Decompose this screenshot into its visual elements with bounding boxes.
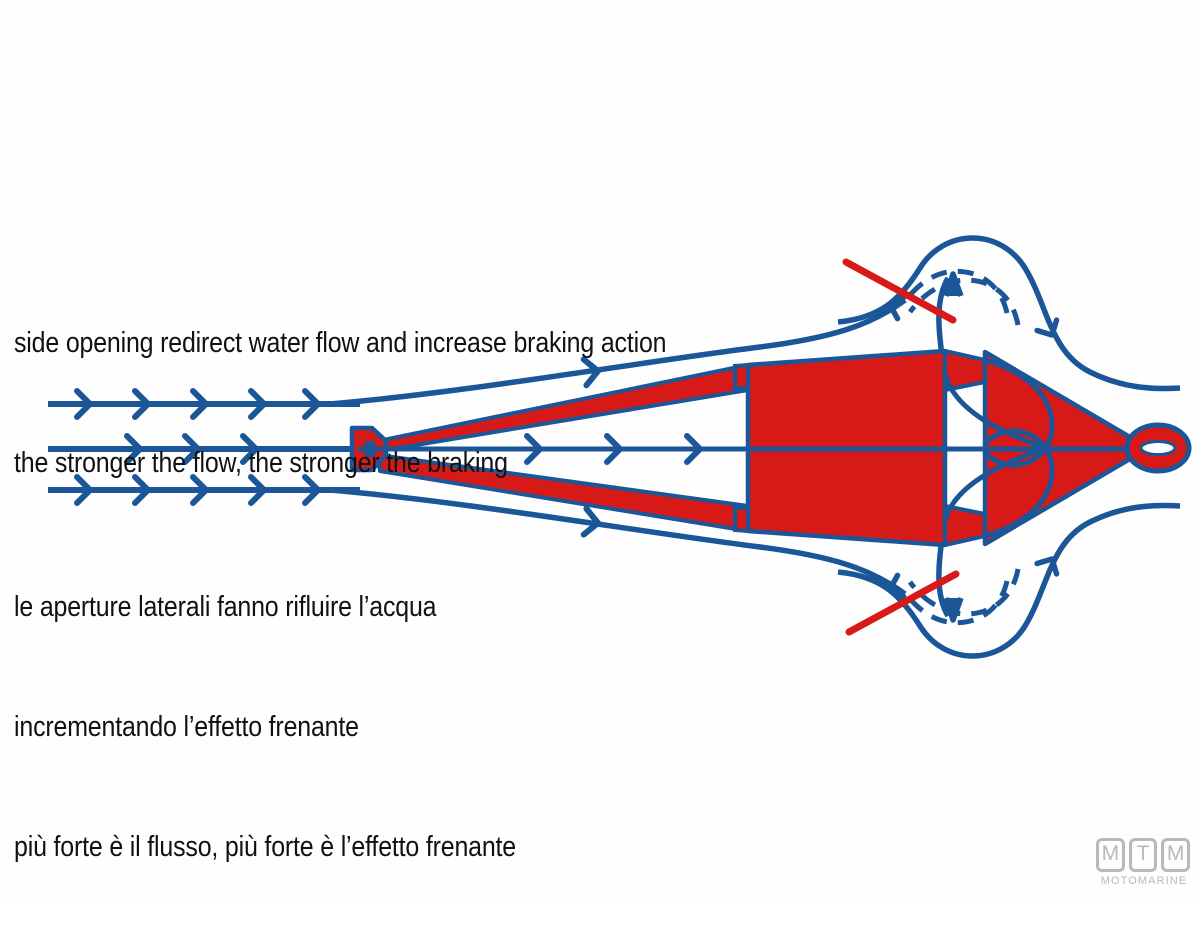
watermark-letter-box-3: M — [1161, 838, 1190, 872]
anode-body-collar-top — [735, 365, 748, 388]
caption-italian-line-1: le aperture laterali fanno rifluire l’ac… — [14, 587, 516, 627]
caption-english-line-2: the stronger the flow, the stronger the … — [14, 443, 666, 483]
watermark-letter-box-2: T — [1129, 838, 1158, 872]
red-marker-line-top — [846, 262, 953, 320]
anode-body-collar-bottom — [735, 508, 748, 531]
watermark-wordmark: MOTOMARINE — [1096, 875, 1192, 887]
diagram-canvas: side opening redirect water flow and inc… — [0, 0, 1200, 900]
caption-english-line-1: side opening redirect water flow and inc… — [14, 323, 666, 363]
caption-italian-line-2: incrementando l’effetto frenante — [14, 707, 516, 747]
anode-eyelet-ring — [1127, 425, 1189, 471]
watermark-letter-boxes: M T M — [1096, 838, 1190, 872]
dashed-return-arrow-top — [906, 271, 1018, 325]
caption-italian-line-3: più forte è il flusso, più forte è l’eff… — [14, 827, 516, 867]
watermark-letter-box-1: M — [1096, 838, 1125, 872]
watermark-logo: M T M MOTOMARINE — [1096, 838, 1190, 888]
caption-italian: le aperture laterali fanno rifluire l’ac… — [14, 507, 516, 947]
